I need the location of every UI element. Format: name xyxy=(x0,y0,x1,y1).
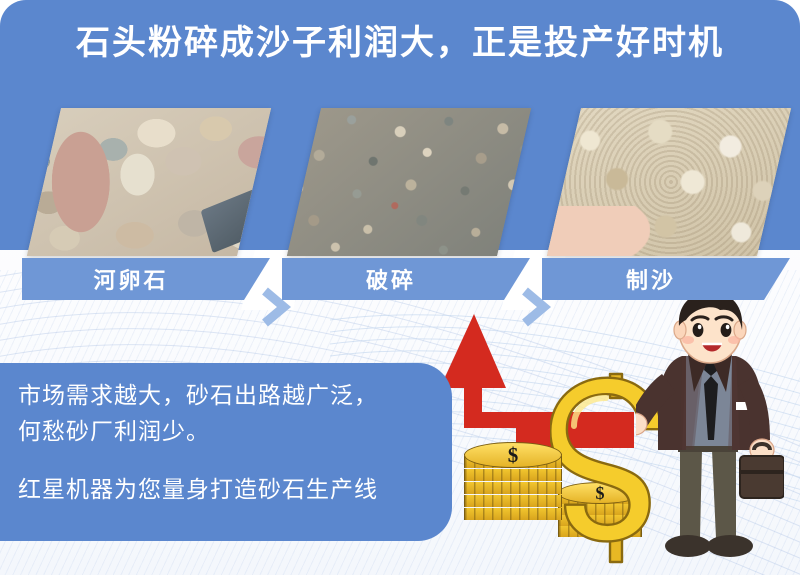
message-line-3: 红星机器为您量身打造砂石生产线 xyxy=(18,471,378,507)
coin-stack-primary: $ xyxy=(464,442,562,534)
slate-stone-shape xyxy=(201,183,271,253)
river-pebbles-photo xyxy=(27,108,271,256)
step-label-bar-1: 河卵石 xyxy=(22,258,270,300)
step-label-bar-2: 破碎 xyxy=(282,258,530,300)
hand-shape xyxy=(547,206,650,256)
manufactured-sand-photo xyxy=(547,108,791,256)
process-step-3[interactable]: 制沙 xyxy=(542,108,792,303)
process-step-2[interactable]: 破碎 xyxy=(282,108,532,303)
process-step-1[interactable]: 河卵石 xyxy=(22,108,272,303)
poster-canvas: 石头粉碎成沙子利润大，正是投产好时机 河卵石 xyxy=(0,0,800,575)
step-label-1: 河卵石 xyxy=(22,258,240,300)
page-title: 石头粉碎成沙子利润大，正是投产好时机 xyxy=(0,22,800,64)
step-label-2: 破碎 xyxy=(282,258,500,300)
process-flow: 河卵石 破碎 xyxy=(0,108,800,308)
illustration-group: $ $ xyxy=(440,296,800,575)
step-label-bar-3: 制沙 xyxy=(542,258,790,300)
message-box: 市场需求越大，砂石出路越广泛， 何愁砂厂利润少。 红星机器为您量身打造砂石生产线 xyxy=(0,363,452,541)
crushed-gravel-photo xyxy=(287,108,531,256)
message-line-2: 何愁砂厂利润少。 xyxy=(18,413,210,449)
step-label-3: 制沙 xyxy=(542,258,760,300)
message-line-1: 市场需求越大，砂石出路越广泛， xyxy=(18,377,378,413)
coin-dollar-symbol-1: $ xyxy=(464,442,562,468)
businessman-figure xyxy=(636,300,784,574)
